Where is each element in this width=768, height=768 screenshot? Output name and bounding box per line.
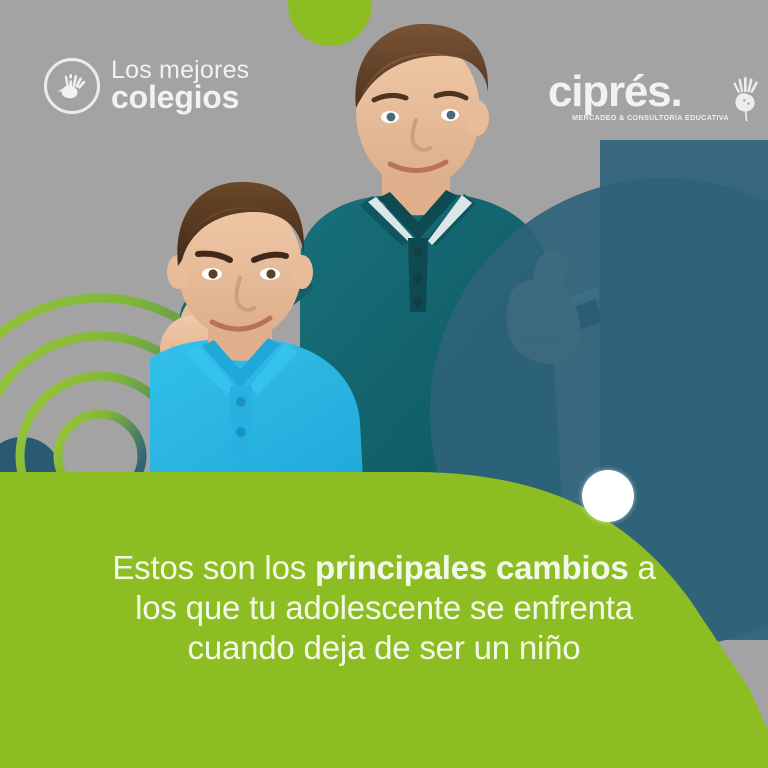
headline-line-3: cuando deja de ser un niño: [0, 628, 768, 668]
headline: Estos son los principales cambios a los …: [0, 548, 768, 668]
cipres-wordmark: ciprés.: [548, 72, 729, 112]
headline-text: los que tu adolescente se enfrenta: [135, 589, 633, 626]
logo-los-mejores-colegios[interactable]: Los mejores colegios: [44, 58, 249, 114]
hand-splash-badge-icon: [44, 58, 100, 114]
headline-text: cuando deja de ser un niño: [188, 629, 581, 666]
logo-left-line2: colegios: [111, 83, 249, 112]
headline-line-1: Estos son los principales cambios a: [0, 548, 768, 588]
headline-text: a: [629, 549, 656, 586]
cipres-tagline: MERCADEO & CONSULTORÍA EDUCATIVA: [572, 113, 729, 122]
headline-emphasis: principales cambios: [315, 549, 629, 586]
headline-line-2: los que tu adolescente se enfrenta: [0, 588, 768, 628]
social-media-post: Los mejores colegios ciprés. MERCADEO & …: [0, 0, 768, 768]
logo-cipres[interactable]: ciprés. MERCADEO & CONSULTORÍA EDUCATIVA: [548, 72, 761, 122]
headline-text: Estos son los: [112, 549, 315, 586]
cipres-dot: .: [670, 67, 681, 116]
white-dot-decoration: [582, 470, 634, 522]
sprout-hand-icon: [731, 76, 761, 122]
